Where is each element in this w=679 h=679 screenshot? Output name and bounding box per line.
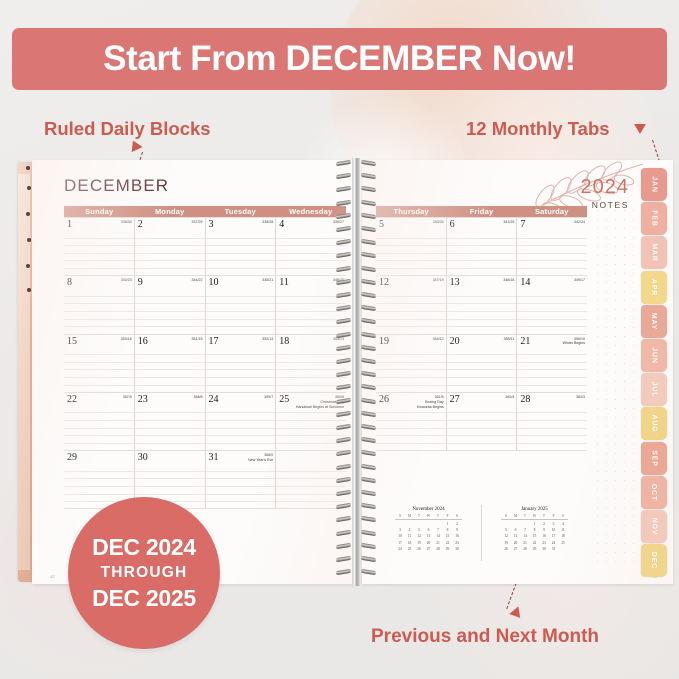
tab-label: AUG: [651, 415, 658, 433]
day-number: 4: [279, 219, 284, 230]
caption-monthly-tabs: 12 Monthly Tabs: [466, 118, 610, 140]
mini-weekday-initial: M: [405, 513, 415, 520]
mini-day-cell[interactable]: 2: [452, 520, 462, 527]
day-meta: 336/30: [121, 220, 132, 225]
day-meta: 342/24: [574, 220, 585, 225]
spiral-coil: [336, 437, 376, 444]
mini-weekday-initial: S: [501, 513, 511, 520]
calendar-day-cell[interactable]: 12347/19: [376, 276, 447, 333]
tab-nov[interactable]: NOV: [641, 510, 667, 543]
spiral-coil: [336, 569, 376, 576]
mini-day-cell[interactable]: 27: [511, 546, 521, 552]
mini-calendar-title: January 2025: [482, 507, 587, 512]
calendar-week-row: 1336/302337/293338/284339/27: [64, 217, 346, 276]
day-number: 12: [379, 277, 389, 288]
ruled-lines: [447, 288, 517, 333]
mini-weekday-initial: S: [558, 513, 568, 520]
day-number: 13: [450, 277, 460, 288]
calendar-week-row: 22357/923358/824359/725360/6Christmas Da…: [64, 393, 346, 451]
mini-day-cell[interactable]: [520, 520, 530, 527]
day-meta: 344/22: [192, 278, 203, 283]
mini-week-row: 262728293031: [501, 546, 568, 552]
mini-weekday-initial: S: [395, 513, 405, 520]
tab-label: JUN: [651, 347, 658, 363]
day-meta: 343/23: [121, 278, 132, 283]
mini-day-cell[interactable]: [501, 520, 511, 527]
tab-label: APR: [651, 279, 658, 296]
mini-day-cell[interactable]: 28: [520, 546, 530, 552]
day-number: 9: [138, 277, 143, 288]
tab-label: MAR: [651, 244, 658, 262]
day-number: 7: [520, 219, 525, 230]
tab-label: SEP: [650, 450, 657, 466]
spiral-coil: [336, 464, 376, 471]
mini-day-cell[interactable]: [558, 546, 568, 552]
ruled-lines: [517, 230, 587, 275]
day-number: 11: [279, 277, 289, 288]
calendar-day-cell[interactable]: 19354/12: [376, 335, 447, 392]
mini-day-cell[interactable]: 31: [549, 546, 559, 552]
ruled-lines: [206, 230, 276, 275]
tab-label: OCT: [651, 484, 658, 501]
mini-day-cell[interactable]: [511, 520, 521, 527]
calendar-day-cell[interactable]: 6341/25: [447, 218, 518, 275]
spiral-coil: [336, 516, 376, 523]
day-number: 21: [520, 336, 530, 347]
mini-weekday-initial: T: [520, 513, 530, 520]
weekday-label-friday: Friday: [446, 206, 516, 217]
mini-week-row: 24252627282930: [395, 546, 462, 552]
weekday-header-left: SundayMondayTuesdayWednesday: [64, 206, 346, 217]
mini-day-cell[interactable]: 2: [539, 520, 549, 527]
spiral-coil: [336, 279, 376, 286]
mini-day-cell[interactable]: [424, 520, 434, 527]
spiral-coil: [336, 530, 376, 537]
ruled-lines: [517, 405, 587, 450]
calendar-day-cell[interactable]: 7342/24: [517, 218, 587, 275]
day-meta: 350/16: [121, 337, 132, 342]
tab-oct[interactable]: OCT: [641, 476, 667, 509]
spiral-coil: [336, 490, 376, 497]
ruled-lines: [447, 405, 517, 450]
caption-ruled-daily-blocks: Ruled Daily Blocks: [44, 118, 211, 140]
tab-label: MAY: [650, 313, 657, 330]
ruled-lines: [135, 230, 205, 275]
day-number: 29: [67, 452, 77, 463]
tab-jul[interactable]: JUL: [641, 373, 667, 406]
ruled-lines: [447, 347, 517, 392]
date-range-badge: DEC 2024 THROUGH DEC 2025: [68, 497, 220, 649]
mini-week-row: 1234: [501, 520, 568, 527]
day-meta: 356/10Winter Begins: [563, 337, 585, 347]
mini-week-row: 12: [395, 520, 462, 527]
ruled-lines: [64, 405, 134, 450]
calendar-day-cell[interactable]: 13348/18: [447, 276, 518, 333]
mini-day-cell[interactable]: 25: [405, 546, 415, 552]
spiral-coil: [336, 200, 376, 207]
calendar-day-cell[interactable]: 14349/17: [517, 276, 587, 333]
headline-text: Start From DECEMBER Now!: [103, 39, 576, 79]
calendar-day-cell[interactable]: 1336/30: [64, 218, 135, 275]
calendar-day-cell[interactable]: 26361/5Boxing DayKwanzaa Begins: [376, 393, 447, 450]
tab-jan[interactable]: JAN: [641, 168, 667, 201]
day-number: 14: [520, 277, 530, 288]
badge-line-1: DEC 2024: [92, 534, 196, 561]
day-meta: 351/15: [192, 337, 203, 342]
spiral-coil: [336, 186, 376, 193]
calendar-week-row: 5340/266341/257342/24: [376, 217, 587, 276]
mini-calendar[interactable]: November 2024SMTWTFS12345678910111213141…: [376, 505, 481, 561]
weekday-label-thursday: Thursday: [376, 206, 446, 217]
mini-day-cell[interactable]: [433, 520, 443, 527]
holiday-label: New Year's Eve: [248, 458, 273, 463]
spiral-coil: [336, 160, 376, 167]
month-title: DECEMBER: [64, 176, 169, 196]
calendar-day-cell[interactable]: 27362/4: [447, 393, 518, 450]
day-meta: 354/12: [433, 337, 444, 342]
ruled-lines: [135, 405, 205, 450]
mini-weekday-initial: F: [549, 513, 559, 520]
mini-day-cell[interactable]: [414, 520, 424, 527]
day-meta: 358/8: [194, 395, 203, 400]
mini-day-cell[interactable]: 28: [433, 546, 443, 552]
tab-label: NOV: [650, 518, 657, 536]
day-number: 8: [67, 277, 72, 288]
caption-previous-next-month: Previous and Next Month: [371, 626, 599, 648]
spiral-coil: [336, 384, 376, 391]
weekday-label-saturday: Saturday: [517, 206, 587, 217]
day-number: 18: [279, 336, 289, 347]
mini-day-cell[interactable]: 26: [414, 546, 424, 552]
day-number: 26: [379, 394, 389, 405]
spiral-coil: [336, 477, 376, 484]
day-meta: 345/21: [262, 278, 273, 283]
day-meta: 352/14: [262, 337, 273, 342]
tab-sep[interactable]: SEP: [641, 442, 667, 475]
mini-weekday-initial: F: [443, 513, 453, 520]
day-meta: 362/4: [505, 395, 514, 400]
badge-line-3: DEC 2025: [92, 585, 196, 612]
ruled-lines: [376, 347, 446, 392]
calendar-week-row: 19354/1220355/1121356/10Winter Begins: [376, 335, 587, 393]
punch-hole: [27, 186, 31, 190]
calendar-day-cell[interactable]: 17352/14: [206, 335, 277, 392]
spiral-coil: [336, 345, 376, 352]
spiral-coil: [336, 318, 376, 325]
calendar-day-cell[interactable]: 20355/11: [447, 335, 518, 392]
spiral-coil: [336, 239, 376, 246]
weekday-label-monday: Monday: [135, 206, 206, 217]
spiral-coil: [336, 424, 376, 431]
ruled-lines: [376, 405, 446, 450]
spiral-binding: [336, 158, 376, 586]
mini-weekday-initial: T: [539, 513, 549, 520]
mini-weekday-initial: T: [433, 513, 443, 520]
ruled-lines: [64, 230, 134, 275]
planner-page-right: 2024 NOTES ThursdayFridaySaturday 5340/2…: [362, 160, 673, 584]
day-number: 15: [67, 336, 77, 347]
calendar-day-cell[interactable]: 22357/9: [64, 393, 135, 450]
day-number: 10: [209, 277, 219, 288]
weekday-label-sunday: Sunday: [64, 206, 135, 217]
spiral-coil: [336, 450, 376, 457]
ruled-lines: [447, 230, 517, 275]
mini-day-cell[interactable]: 24: [395, 546, 405, 552]
ruled-lines: [376, 230, 446, 275]
ruled-lines: [206, 347, 276, 392]
mini-calendar-table: SMTWTFS123456789101112131415161718192021…: [395, 513, 462, 552]
calendar-week-row: 15350/1616351/1517352/1418353/13: [64, 335, 346, 393]
mini-weekday-initial: W: [424, 513, 434, 520]
ruled-lines: [206, 288, 276, 333]
weekday-header-right: ThursdayFridaySaturday: [376, 206, 587, 217]
punch-hole: [27, 288, 31, 292]
day-meta: 357/9: [123, 395, 132, 400]
day-number: 28: [520, 394, 530, 405]
calendar-week-row: 26361/5Boxing DayKwanzaa Begins27362/428…: [376, 393, 587, 451]
ruled-lines: [517, 347, 587, 392]
day-number: 20: [450, 336, 460, 347]
day-number: 16: [138, 336, 148, 347]
holiday-label: Winter Begins: [563, 341, 585, 346]
spiral-coil: [336, 543, 376, 550]
tab-label: JAN: [651, 176, 658, 192]
tab-aug[interactable]: AUG: [641, 407, 667, 440]
tab-label: JUL: [651, 382, 658, 398]
spiral-coil: [336, 252, 376, 259]
tab-mar[interactable]: MAR: [641, 236, 667, 269]
mini-day-cell[interactable]: 30: [539, 546, 549, 552]
day-number: 31: [209, 452, 219, 463]
weekday-label-tuesday: Tuesday: [205, 206, 276, 217]
calendar-week-row: 293031366/0New Year's Eve: [64, 451, 346, 509]
tab-dec[interactable]: DEC: [641, 544, 667, 577]
calendar-day-cell[interactable]: 16351/15: [135, 335, 206, 392]
day-meta: 355/11: [504, 337, 515, 342]
punch-hole: [27, 238, 31, 242]
ruled-lines: [206, 463, 276, 508]
mini-day-cell[interactable]: [395, 520, 405, 527]
mini-day-cell[interactable]: 1: [530, 520, 540, 527]
tab-feb[interactable]: FEB: [641, 202, 667, 235]
mini-weekday-initial: T: [414, 513, 424, 520]
calendar-week-row: 12347/1913348/1814349/17: [376, 276, 587, 334]
day-meta: 340/26: [433, 220, 444, 225]
calendar-day-cell[interactable]: 24359/7: [206, 393, 277, 450]
ruled-lines: [135, 288, 205, 333]
mini-day-cell[interactable]: [405, 520, 415, 527]
calendar-day-cell[interactable]: 10345/21: [206, 276, 277, 333]
mini-day-cell[interactable]: 27: [424, 546, 434, 552]
day-meta: 338/28: [262, 220, 273, 225]
spiral-coil: [336, 332, 376, 339]
mini-calendar-table: SMTWTFS123456789101112131415161718192021…: [501, 513, 568, 552]
day-number: 23: [138, 394, 148, 405]
spiral-coil: [336, 398, 376, 405]
tab-label: DEC: [651, 552, 658, 569]
spiral-coil: [336, 173, 376, 180]
day-meta: 348/18: [503, 278, 514, 283]
calendar-day-cell[interactable]: 3338/28: [206, 218, 277, 275]
calendar-day-cell[interactable]: 31366/0New Year's Eve: [206, 451, 277, 508]
day-number: 25: [279, 394, 289, 405]
spiral-coil: [336, 556, 376, 563]
day-meta: 366/0New Year's Eve: [248, 453, 273, 463]
day-meta: 363/3: [576, 395, 585, 400]
day-number: 3: [209, 219, 214, 230]
mini-weekday-initial: M: [511, 513, 521, 520]
day-number: 19: [379, 336, 389, 347]
calendar-day-cell[interactable]: 9344/22: [135, 276, 206, 333]
spiral-coil: [336, 266, 376, 273]
calendar-day-cell[interactable]: 15350/16: [64, 335, 135, 392]
mini-day-cell[interactable]: 29: [443, 546, 453, 552]
year-label: 2024: [581, 176, 630, 199]
mini-calendar-title: November 2024: [376, 507, 481, 512]
pointer-arrow-monthly-tabs-icon: [634, 124, 646, 134]
ruled-lines: [517, 288, 587, 333]
planner-cover-edge-highlight: [18, 174, 30, 570]
day-number: 5: [379, 219, 384, 230]
mini-day-cell[interactable]: 3: [549, 520, 559, 527]
punch-hole: [26, 264, 30, 268]
page-number-left: 42: [50, 574, 54, 579]
day-number: 2: [138, 219, 143, 230]
spiral-coil: [336, 371, 376, 378]
spiral-coil: [336, 213, 376, 220]
mini-weekday-initial: W: [530, 513, 540, 520]
calendar-day-cell[interactable]: 21356/10Winter Begins: [517, 335, 587, 392]
ruled-lines: [64, 288, 134, 333]
mini-day-cell[interactable]: 29: [530, 546, 540, 552]
spiral-coil: [336, 292, 376, 299]
badge-line-2: THROUGH: [101, 561, 188, 584]
calendar-day-cell[interactable]: 5340/26: [376, 218, 447, 275]
day-meta: 347/19: [433, 278, 444, 283]
mini-calendars: November 2024SMTWTFS12345678910111213141…: [376, 505, 587, 561]
day-meta: 349/17: [574, 278, 585, 283]
calendar-day-cell[interactable]: 28363/3: [517, 393, 587, 450]
ruled-lines: [206, 405, 276, 450]
mini-day-cell[interactable]: 4: [558, 520, 568, 527]
day-number: 1: [67, 219, 72, 230]
calendar-day-cell[interactable]: 23358/8: [135, 393, 206, 450]
monthly-tab-strip[interactable]: JANFEBMARAPRMAYJUNJULAUGSEPOCTNOVDEC: [641, 168, 667, 586]
mini-day-cell[interactable]: 30: [452, 546, 462, 552]
ruled-lines: [135, 347, 205, 392]
day-number: 6: [450, 219, 455, 230]
day-number: 30: [138, 452, 148, 463]
calendar-week-row: 8343/239344/2210345/2111346/20: [64, 276, 346, 334]
mini-day-cell[interactable]: 1: [443, 520, 453, 527]
calendar-day-cell[interactable]: 2337/29: [135, 218, 206, 275]
tab-jun[interactable]: JUN: [641, 339, 667, 372]
spiral-coil: [336, 305, 376, 312]
day-meta: 341/25: [503, 220, 514, 225]
day-meta: 337/29: [192, 220, 203, 225]
punch-hole: [26, 166, 30, 170]
calendar-day-cell[interactable]: 8343/23: [64, 276, 135, 333]
day-number: 24: [209, 394, 219, 405]
tab-label: FEB: [651, 210, 658, 226]
punch-hole: [26, 212, 30, 216]
spiral-coil: [336, 503, 376, 510]
mini-weekday-initial: S: [452, 513, 462, 520]
ruled-lines: [64, 347, 134, 392]
spiral-coil: [336, 411, 376, 418]
day-number: 22: [67, 394, 77, 405]
headline-banner: Start From DECEMBER Now!: [12, 28, 667, 90]
tab-apr[interactable]: APR: [641, 271, 667, 304]
day-meta: 359/7: [264, 395, 273, 400]
ruled-lines: [376, 288, 446, 333]
day-number: 27: [450, 394, 460, 405]
mini-calendar[interactable]: January 2025SMTWTFS123456789101112131415…: [481, 505, 587, 561]
spiral-coil: [336, 358, 376, 365]
day-number: 17: [209, 336, 219, 347]
mini-day-cell[interactable]: 26: [501, 546, 511, 552]
tab-may[interactable]: MAY: [641, 305, 667, 338]
spiral-coil: [336, 226, 376, 233]
